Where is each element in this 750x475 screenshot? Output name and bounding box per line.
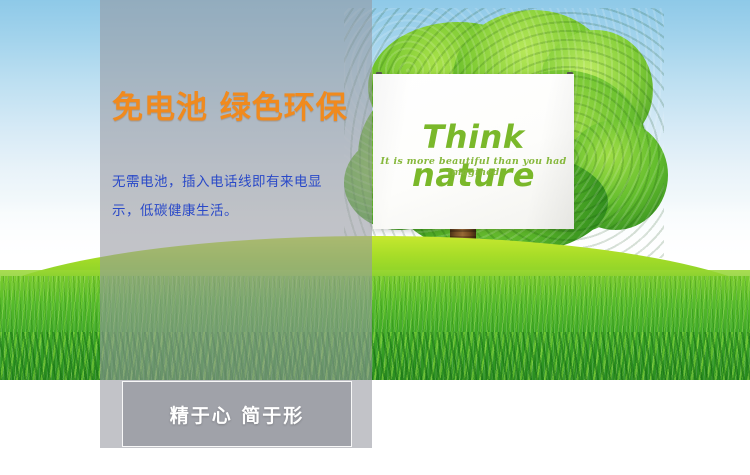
cloth-banner-subtitle: It is more beautiful than you had imagin… [373, 156, 574, 178]
slogan-text: 精于心 简于形 [170, 401, 305, 428]
cloth-banner: Think nature It is more beautiful than y… [373, 74, 574, 229]
slogan-box: 精于心 简于形 [122, 381, 352, 447]
promotional-banner-image: Think nature It is more beautiful than y… [0, 0, 750, 475]
subtext-description: 无需电池，插入电话线即有来电显示，低碳健康生活。 [112, 168, 342, 226]
headline-text: 免电池 绿色环保 [112, 82, 374, 127]
